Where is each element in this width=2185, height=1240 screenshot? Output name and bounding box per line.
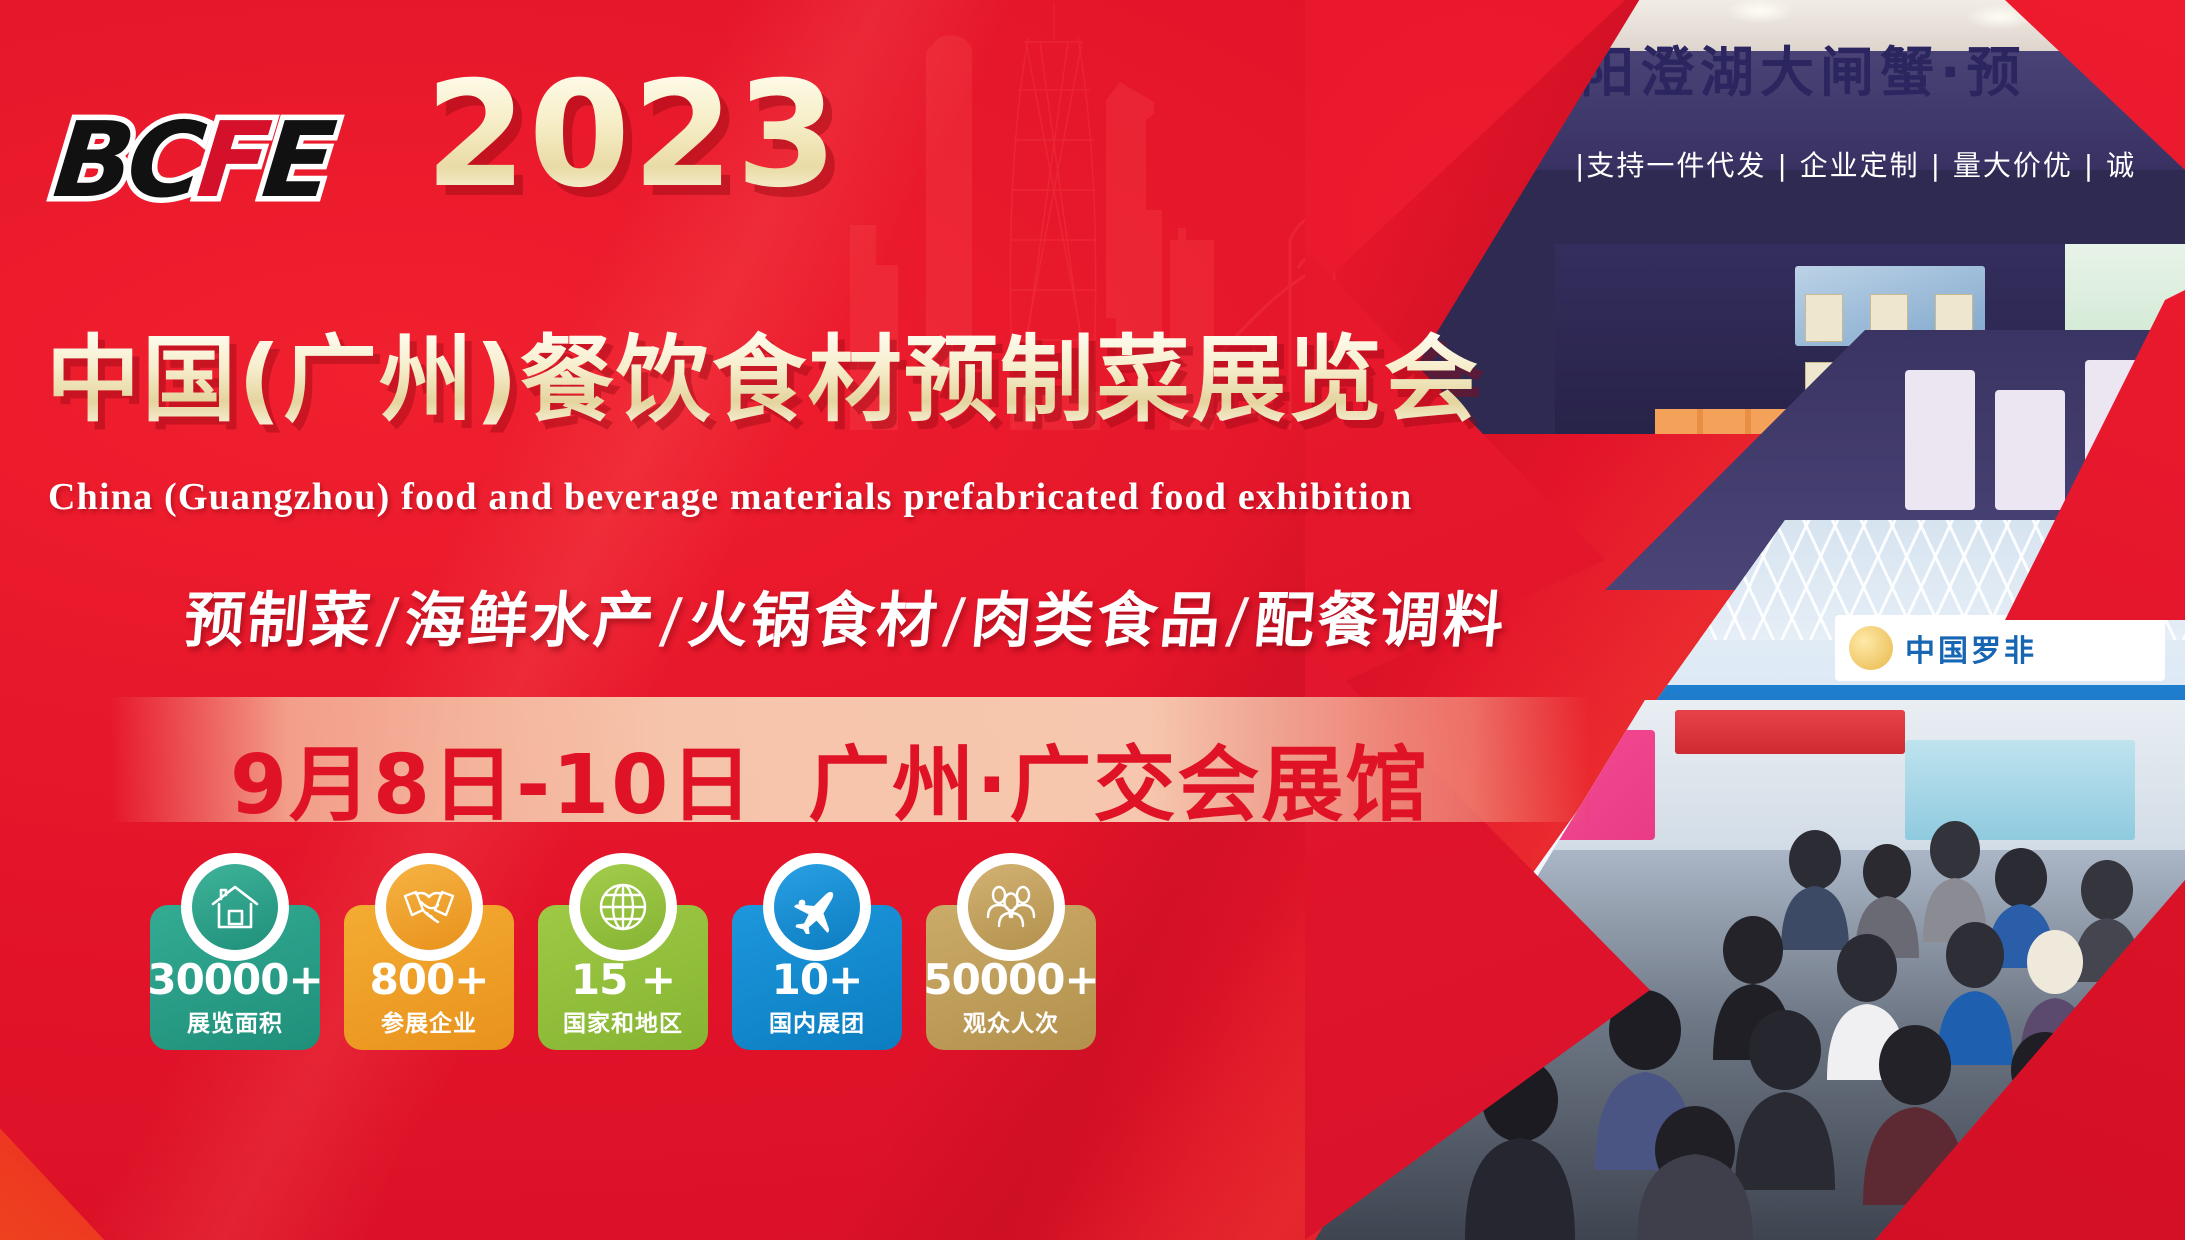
category-line: 预制菜/海鲜水产/火锅食材/肉类食品/配餐调料 — [181, 572, 1510, 659]
title-chinese: 中国(广州)餐饮食材预制菜展览会 — [46, 330, 1480, 432]
stat-label: 参展企业 — [381, 1013, 477, 1036]
event-date: 9月8日-10日 — [230, 738, 754, 833]
category-1: 海鲜水产 — [402, 586, 660, 656]
stat-icon-ring — [957, 853, 1065, 961]
stat-icon-ring — [569, 853, 677, 961]
globe-icon — [596, 880, 650, 934]
stat-icon-disc — [386, 864, 472, 950]
stat-icon-disc — [774, 864, 860, 950]
people-group-icon — [983, 880, 1039, 934]
logo-letter-b: B — [49, 99, 135, 221]
stat-label: 国内展团 — [769, 1013, 865, 1036]
category-separator: / — [937, 586, 974, 656]
stat-icon-ring — [181, 853, 289, 961]
airplane-icon — [789, 880, 845, 934]
title-english: China (Guangzhou) food and beverage mate… — [48, 475, 1412, 519]
stat-card-exhibition-area: 30000+ 展览面积 — [150, 905, 320, 1050]
stat-icon-disc — [580, 864, 666, 950]
handshake-icon — [401, 880, 457, 934]
category-0: 预制菜 — [181, 586, 376, 656]
poster-content: BCFE 2023 中国(广州)餐饮食材预制菜展览会 China (Guangz… — [0, 0, 1560, 1240]
stat-card-domestic-delegations: 10+ 国内展团 — [732, 905, 902, 1050]
category-separator: / — [1220, 586, 1257, 656]
booth-subline: |支持一件代发 | 企业定制 | 量大价优 | 诚 — [1575, 144, 2136, 184]
stat-label: 国家和地区 — [563, 1013, 683, 1036]
stat-icon-disc — [192, 864, 278, 950]
exhibition-poster: 苏霸王 阳澄湖大闸蟹·预 |支持一件代发 | 企业定制 | 量大价优 | 诚 — [0, 0, 2185, 1240]
bcfe-logo: BCFE — [50, 108, 335, 212]
date-band-text: 9月8日-10日广州·广交会展馆 — [230, 718, 1429, 837]
stat-card-exhibitors: 800+ 参展企业 — [344, 905, 514, 1050]
category-separator: / — [370, 586, 407, 656]
stat-number: 50000+ — [923, 959, 1098, 1001]
stat-number: 30000+ — [147, 959, 322, 1001]
stat-label: 展览面积 — [187, 1013, 283, 1036]
logo-letter-c: C — [122, 99, 205, 221]
stat-card-visitors: 50000+ 观众人次 — [926, 905, 1096, 1050]
stat-number: 10+ — [772, 959, 863, 1001]
stat-icon-ring — [375, 853, 483, 961]
logo-letter-e: E — [257, 99, 335, 221]
house-icon — [208, 880, 262, 934]
stat-card-countries: 15 + 国家和地区 — [538, 905, 708, 1050]
year-2023: 2023 — [425, 62, 839, 208]
event-venue: 广州·广交会展馆 — [808, 738, 1429, 833]
stat-number: 15 + — [571, 959, 675, 1001]
category-2: 火锅食材 — [685, 586, 943, 656]
booth-headline: 阳澄湖大闸蟹·预 — [1580, 28, 2027, 107]
category-4: 配餐调料 — [1251, 586, 1509, 656]
stat-label: 观众人次 — [963, 1013, 1059, 1036]
category-3: 肉类食品 — [968, 586, 1226, 656]
stats-row: 30000+ 展览面积 — [150, 905, 1096, 1050]
stat-icon-ring — [763, 853, 871, 961]
stat-icon-disc — [968, 864, 1054, 950]
stat-number: 800+ — [370, 959, 489, 1001]
